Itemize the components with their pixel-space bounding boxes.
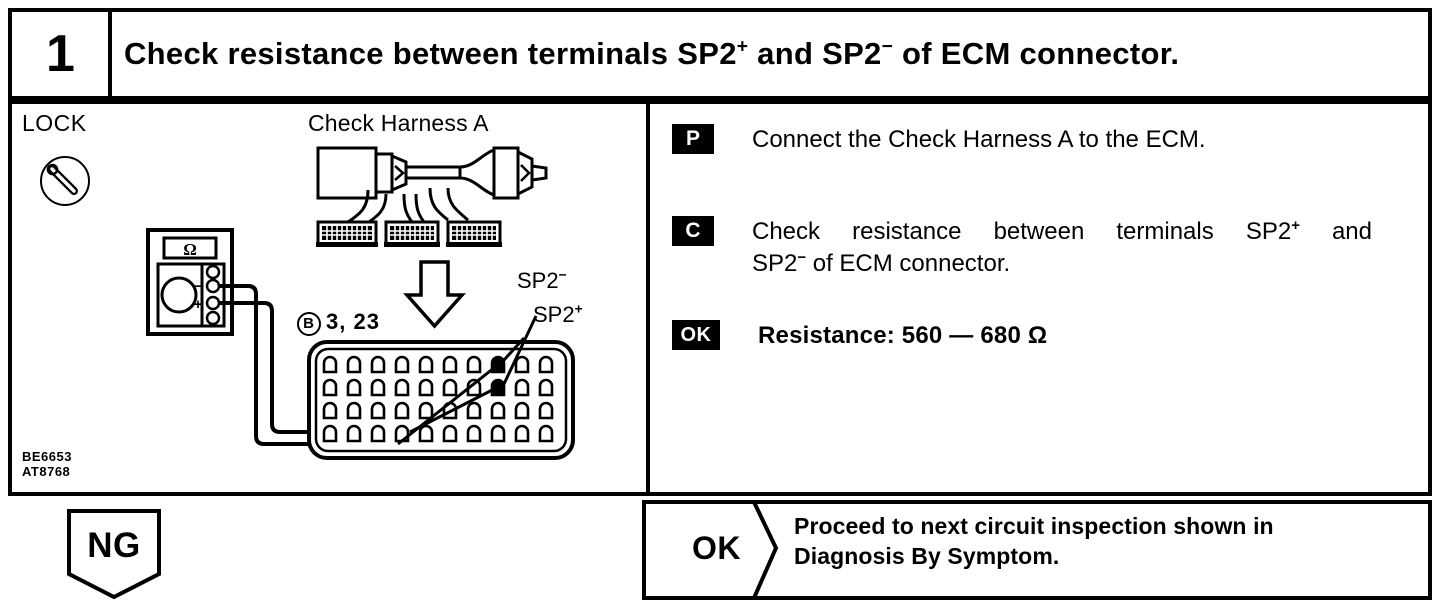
down-arrow-outline [407, 262, 462, 326]
instruction-c-text: Check resistance between terminals SP2+ … [752, 216, 1372, 281]
badge-ok: OK [672, 320, 720, 350]
reference-code-1: BE6653 [22, 450, 72, 465]
sp2-minus-label: SP2− [517, 268, 567, 294]
instruction-step-ok: OK Resistance: 560 — 680 Ω [672, 320, 1047, 352]
badge-c: C [672, 216, 714, 246]
ecm-connector-drawing [309, 342, 573, 458]
connector-pin-numbers: 3, 23 [326, 309, 380, 334]
instruction-c-line1: Check resistance between terminals SP2+ … [752, 216, 1372, 248]
badge-p: P [672, 124, 714, 154]
reference-code-2: AT8768 [22, 465, 72, 480]
result-row: NG OK Proceed to next circuit inspection… [8, 500, 1432, 604]
instructions-panel: P Connect the Check Harness A to the ECM… [650, 104, 1436, 492]
ok-result-box: OK Proceed to next circuit inspection sh… [642, 500, 1432, 600]
diagram-artwork: Ω − + [12, 104, 646, 492]
page-title: Check resistance between terminals SP2+ … [124, 36, 1179, 72]
ok-proceed-line1: Proceed to next circuit inspection shown… [794, 512, 1274, 542]
ohmmeter-drawing: Ω − + [148, 230, 232, 334]
instruction-c-line2: SP2− of ECM connector. [752, 250, 1010, 277]
connector-pin-label: B3, 23 [297, 309, 380, 336]
instruction-step-p: P Connect the Check Harness A to the ECM… [672, 124, 1206, 156]
title-middle: and SP2 [748, 36, 881, 71]
harness-connector-blocks [316, 222, 502, 247]
header-divider [108, 12, 112, 96]
svg-text:Ω: Ω [183, 240, 197, 259]
ok-label: OK [692, 530, 741, 567]
title-superscript-plus: + [737, 37, 749, 58]
content-box: LOCK Check Harness A [8, 100, 1432, 496]
step-number: 1 [46, 28, 74, 80]
ok-proceed-line2: Diagnosis By Symptom. [794, 542, 1274, 572]
instruction-ok-text: Resistance: 560 — 680 Ω [758, 320, 1047, 352]
figure-reference-codes: BE6653 AT8768 [22, 450, 72, 480]
step-title-cell: Check resistance between terminals SP2+ … [124, 12, 1420, 96]
connector-code-circle: B [297, 312, 321, 336]
step-number-cell: 1 [12, 12, 108, 96]
svg-text:+: + [194, 296, 203, 313]
step-header: 1 Check resistance between terminals SP2… [8, 8, 1432, 100]
instruction-p-text: Connect the Check Harness A to the ECM. [752, 124, 1206, 156]
title-prefix: Check resistance between terminals SP2 [124, 36, 737, 71]
service-manual-page: 1 Check resistance between terminals SP2… [0, 0, 1440, 612]
svg-text:−: − [194, 278, 203, 295]
ok-divider-slash [750, 504, 784, 596]
ng-label: NG [66, 526, 162, 566]
title-superscript-minus: − [882, 37, 894, 58]
check-harness-drawing [318, 148, 546, 224]
sp2-plus-label: SP2+ [533, 302, 583, 328]
instruction-step-c: C Check resistance between terminals SP2… [672, 216, 1372, 281]
ok-proceed-text: Proceed to next circuit inspection shown… [794, 512, 1274, 572]
title-suffix: of ECM connector. [893, 36, 1179, 71]
diagram-panel: LOCK Check Harness A [12, 104, 646, 492]
